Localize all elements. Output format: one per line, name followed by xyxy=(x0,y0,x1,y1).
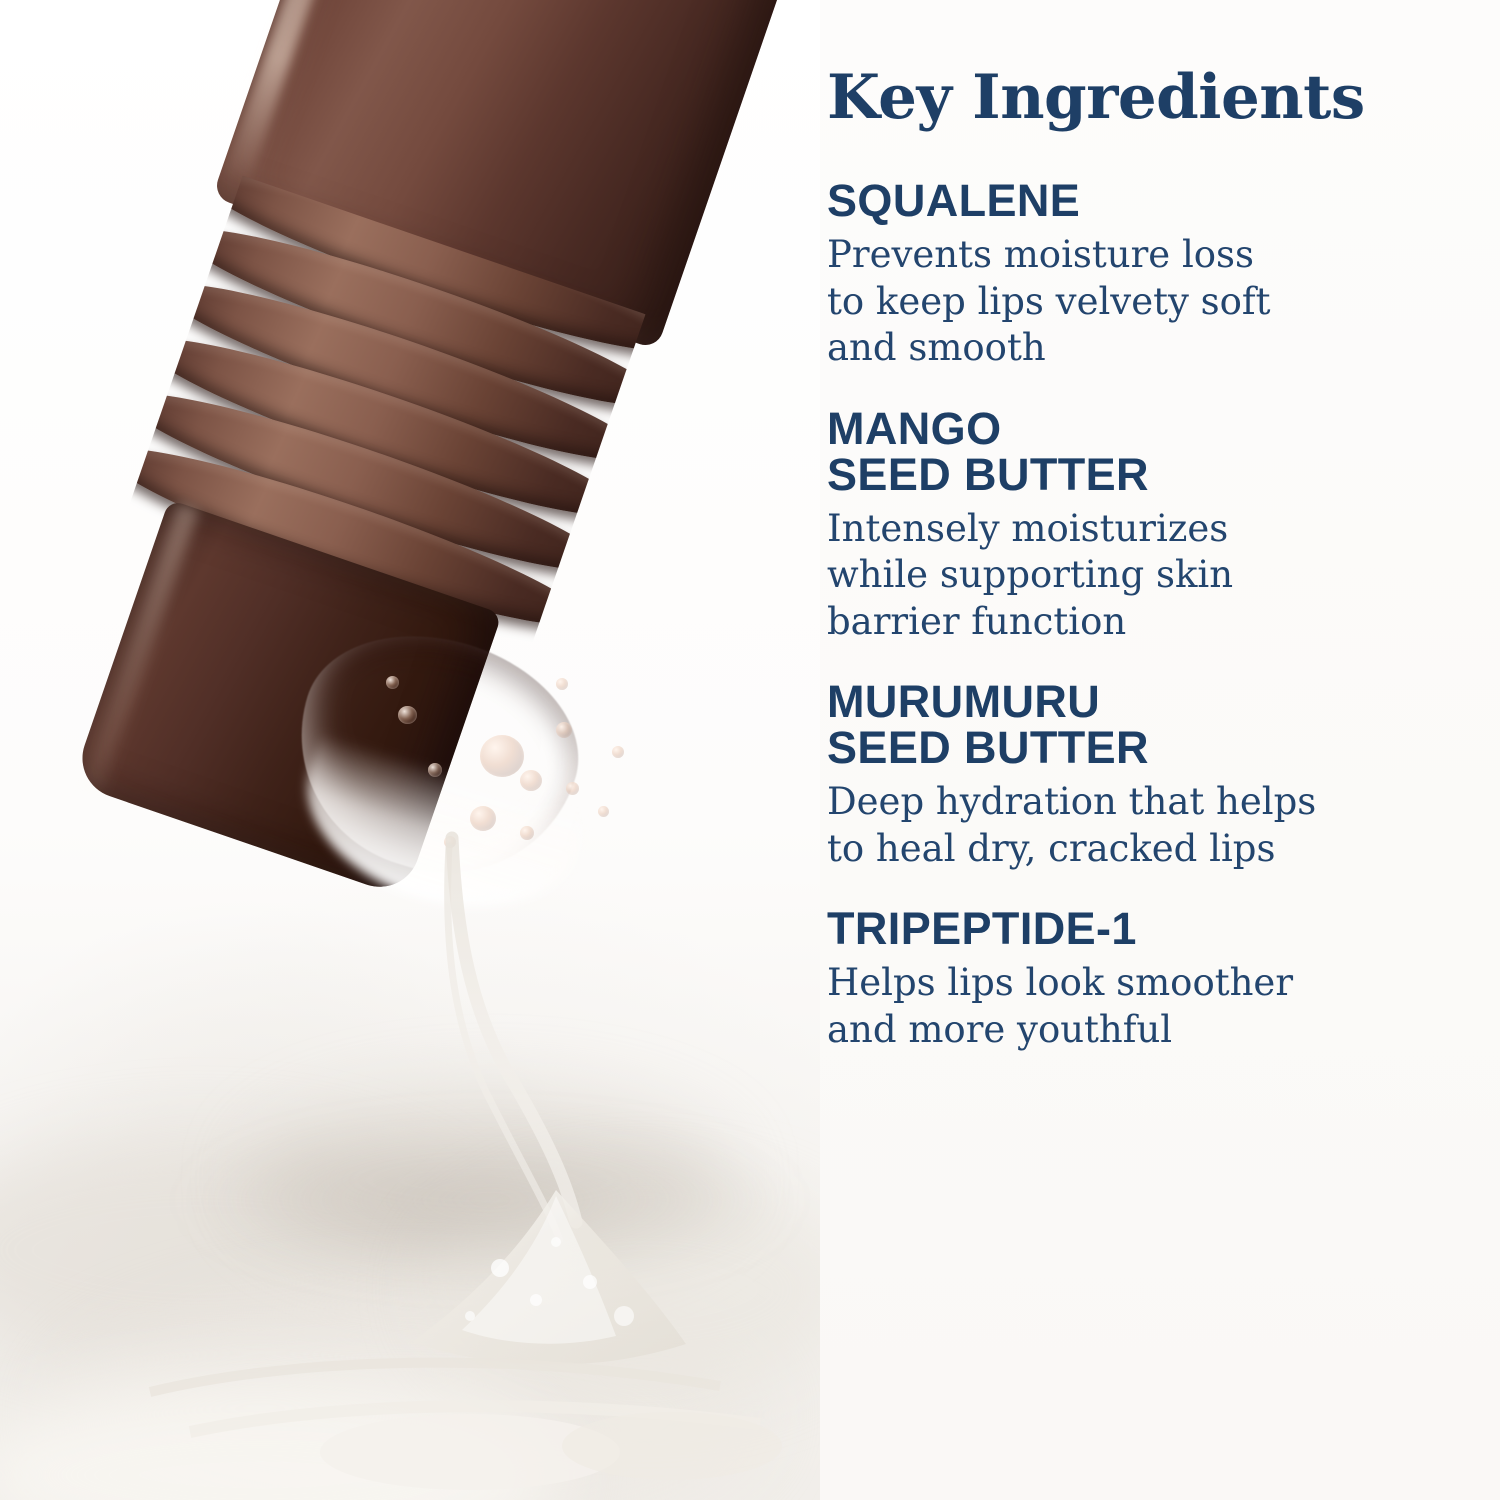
oil-bubble xyxy=(556,678,568,690)
oil-bubble xyxy=(556,722,572,738)
ingredient-description: Intensely moisturizes while supporting s… xyxy=(827,506,1467,646)
oil-bubble xyxy=(386,676,399,689)
oil-bubble xyxy=(398,706,417,724)
oil-bubble xyxy=(480,735,524,777)
oil-bubble xyxy=(566,782,579,795)
ingredient-item-tripeptide-1: TRIPEPTIDE-1 Helps lips look smoother an… xyxy=(827,906,1467,1053)
product-photo xyxy=(0,0,820,1500)
ingredient-name: SQUALENE xyxy=(827,178,1467,224)
oil-bubble xyxy=(612,746,624,758)
ingredient-name: TRIPEPTIDE-1 xyxy=(827,906,1467,952)
ingredient-description: Prevents moisture loss to keep lips velv… xyxy=(827,232,1467,372)
page-title: Key Ingredients xyxy=(827,62,1365,133)
ingredients-list: SQUALENE Prevents moisture loss to keep … xyxy=(827,178,1467,1053)
oil-bubble xyxy=(520,826,534,840)
product-shadow xyxy=(180,1120,800,1280)
ingredient-item-murumuru-seed-butter: MURUMURU SEED BUTTER Deep hydration that… xyxy=(827,679,1467,872)
ingredient-name: MURUMURU SEED BUTTER xyxy=(827,679,1467,771)
ingredients-panel: Key Ingredients SQUALENE Prevents moistu… xyxy=(820,0,1500,1500)
ingredient-item-squalene: SQUALENE Prevents moisture loss to keep … xyxy=(827,178,1467,372)
oil-bubble xyxy=(444,836,456,848)
oil-bubble xyxy=(520,770,542,791)
oil-bubble xyxy=(598,806,609,817)
ingredient-description: Helps lips look smoother and more youthf… xyxy=(827,960,1467,1053)
ingredient-item-mango-seed-butter: MANGO SEED BUTTER Intensely moisturizes … xyxy=(827,406,1467,646)
ingredient-name: MANGO SEED BUTTER xyxy=(827,406,1467,498)
oil-bubble xyxy=(428,763,442,777)
oil-bubble xyxy=(470,806,496,831)
ingredient-description: Deep hydration that helps to heal dry, c… xyxy=(827,779,1467,872)
product-ingredients-infographic: Key Ingredients SQUALENE Prevents moistu… xyxy=(0,0,1500,1500)
